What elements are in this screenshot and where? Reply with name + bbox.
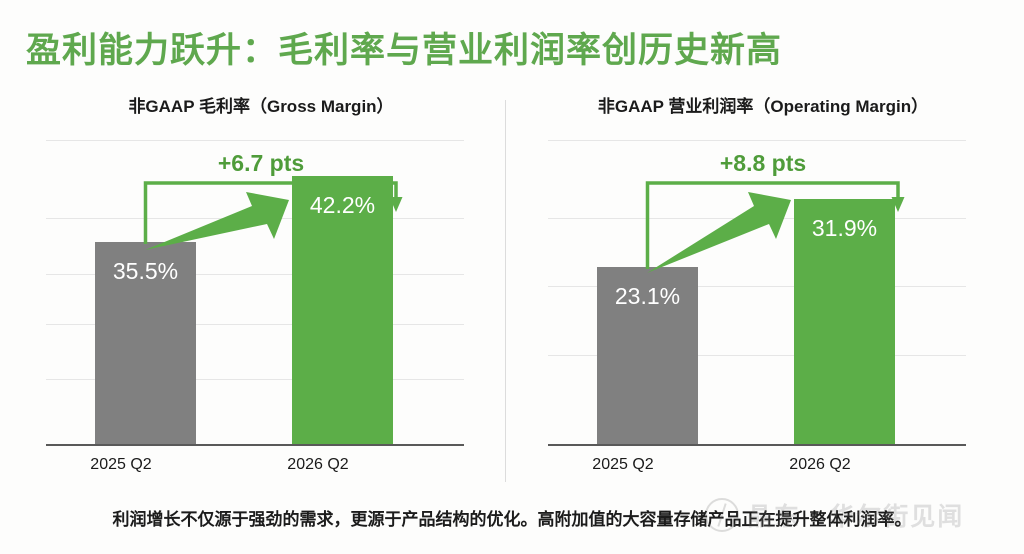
bar-value-2026-q2: 42.2%: [292, 192, 393, 219]
bar-value-2026-q2: 31.9%: [794, 215, 895, 242]
chart-panel-operating-margin: 非GAAP 营业利润率（Operating Margin） 23.1% 31.9…: [524, 92, 1002, 484]
panel-divider: [505, 100, 506, 482]
x-tick-label-2025-q2: 2025 Q2: [553, 456, 693, 474]
delta-label-operating-margin: +8.8 pts: [663, 150, 863, 177]
page-title: 盈利能力跃升：毛利率与营业利润率创历史新高: [26, 22, 782, 73]
x-axis-line: [548, 444, 966, 446]
gridline: [46, 140, 464, 141]
slide-root: 盈利能力跃升：毛利率与营业利润率创历史新高 非GAAP 毛利率（Gross Ma…: [0, 0, 1024, 554]
x-tick-label-2025-q2: 2025 Q2: [51, 456, 191, 474]
bar-2025-q2[interactable]: 23.1%: [597, 267, 698, 444]
bar-2025-q2[interactable]: 35.5%: [95, 242, 196, 444]
chart-panel-gross-margin: 非GAAP 毛利率（Gross Margin） 35.5% 42.2% +6.7…: [22, 92, 500, 484]
bar-2026-q2[interactable]: 42.2%: [292, 176, 393, 444]
chart-title-gross-margin: 非GAAP 毛利率（Gross Margin）: [22, 92, 500, 117]
delta-label-gross-margin: +6.7 pts: [161, 150, 361, 177]
bar-value-2025-q2: 35.5%: [95, 258, 196, 285]
chart-title-operating-margin: 非GAAP 营业利润率（Operating Margin）: [524, 92, 1002, 117]
gridline: [548, 218, 966, 219]
gridline: [46, 218, 464, 219]
x-axis-line: [46, 444, 464, 446]
plot-area-operating-margin: 23.1% 31.9%: [548, 140, 966, 446]
bar-2026-q2[interactable]: 31.9%: [794, 199, 895, 444]
gridline: [548, 140, 966, 141]
footer-note: 利润增长不仅源于强劲的需求，更源于产品结构的优化。高附加值的大容量存储产品正在提…: [0, 505, 1024, 530]
x-tick-label-2026-q2: 2026 Q2: [750, 456, 890, 474]
x-tick-label-2026-q2: 2026 Q2: [248, 456, 388, 474]
bar-value-2025-q2: 23.1%: [597, 283, 698, 310]
plot-area-gross-margin: 35.5% 42.2%: [46, 140, 464, 446]
